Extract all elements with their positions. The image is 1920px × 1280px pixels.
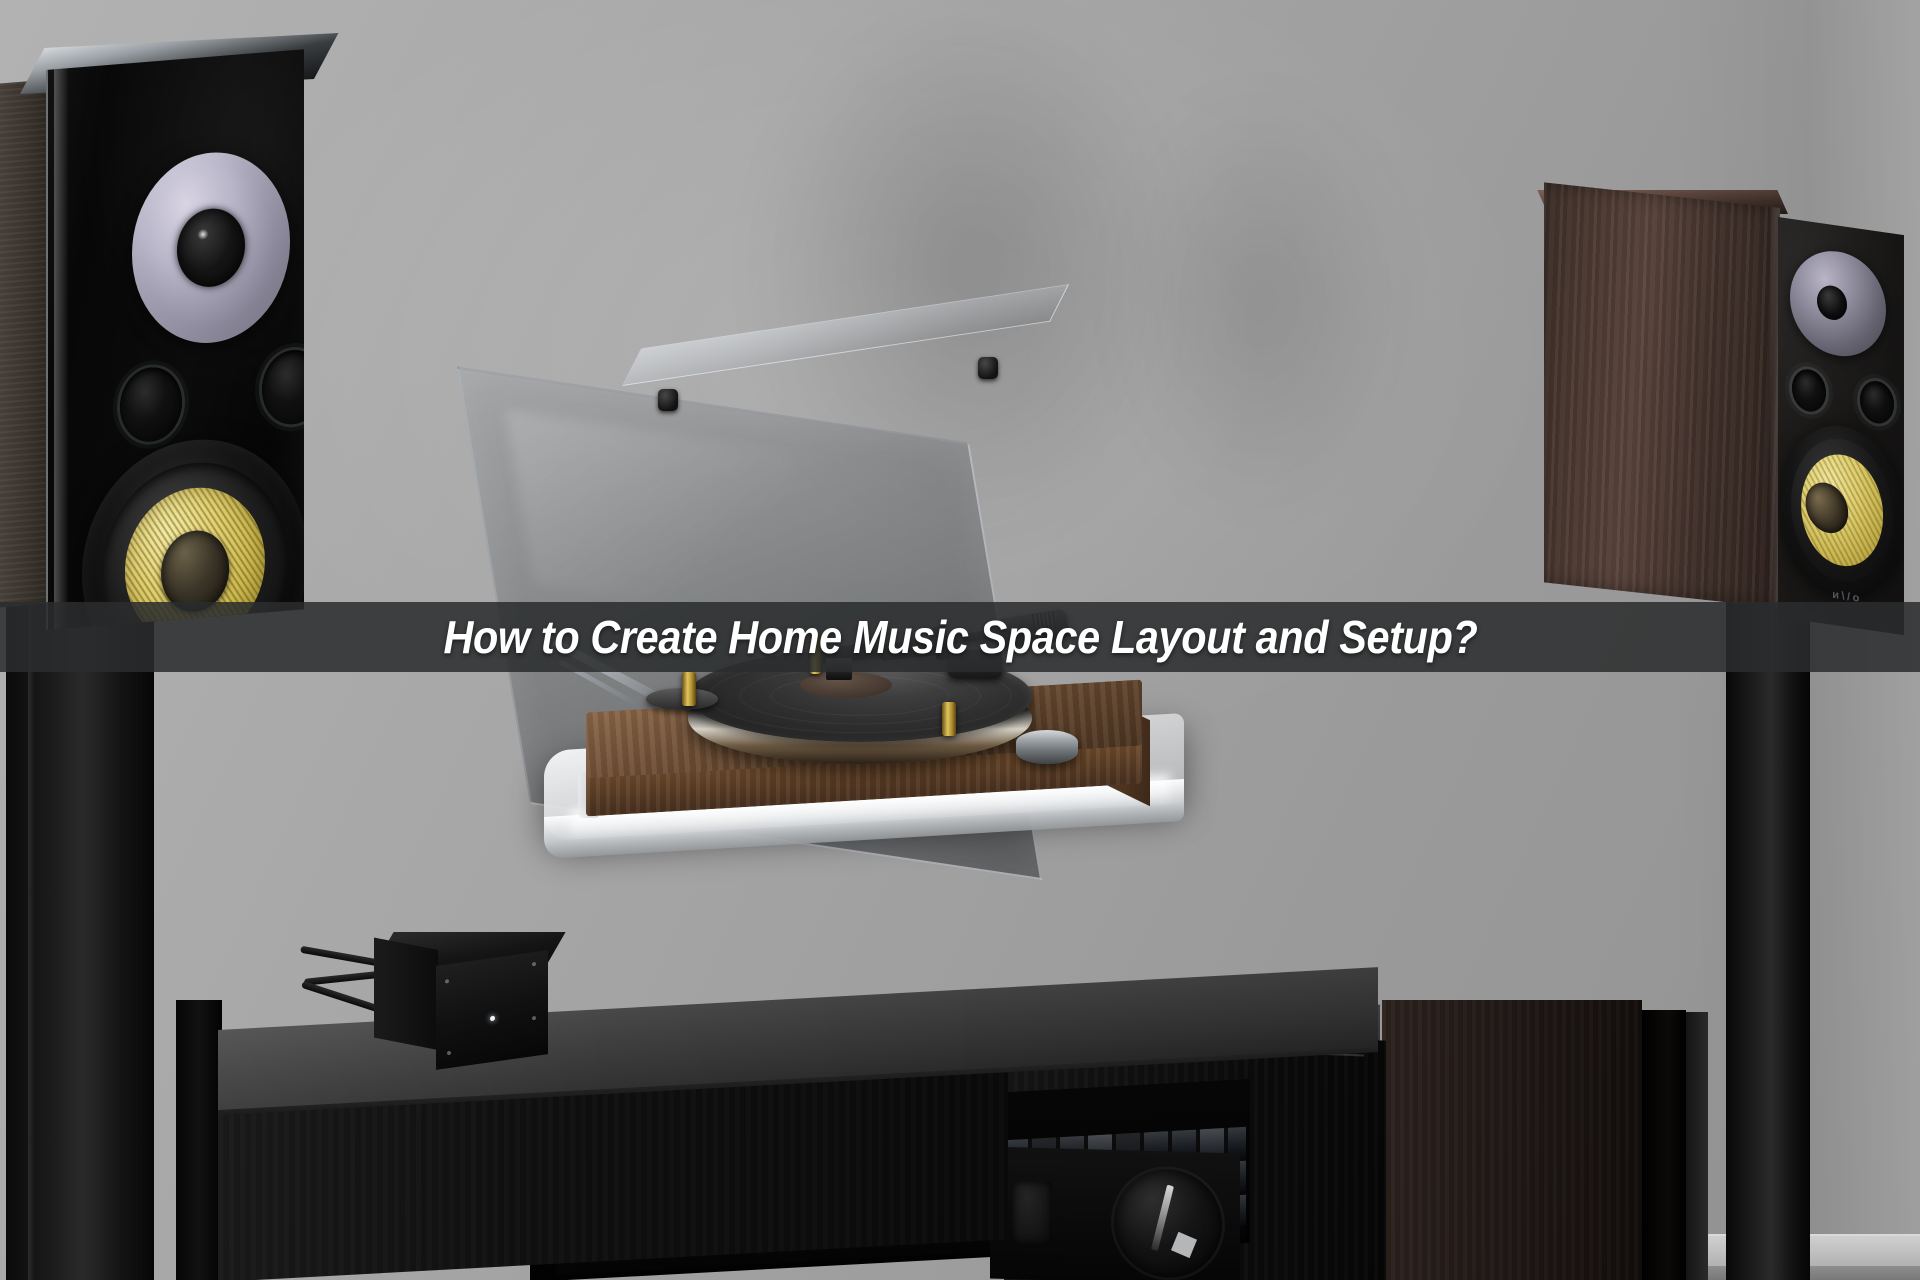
left-speaker-stand xyxy=(6,604,154,1280)
hinge-post xyxy=(682,672,696,706)
speed-knob[interactable] xyxy=(1016,730,1078,764)
bass-port-icon xyxy=(1792,367,1826,414)
screw-icon xyxy=(445,979,449,984)
right-speaker-wood-side xyxy=(1544,182,1780,608)
power-led-icon xyxy=(490,1016,495,1022)
belt-drive-turntable xyxy=(530,400,1210,1050)
sideboard-shadow-gap xyxy=(1686,1012,1708,1280)
hinge-post xyxy=(942,702,956,736)
sideboard-right-unit xyxy=(1382,1000,1642,1280)
right-speaker-baffle: ᴎ\/ᴏ xyxy=(1778,217,1904,635)
woofer-icon xyxy=(82,431,304,630)
bass-port-icon xyxy=(120,365,182,444)
title-banner: How to Create Home Music Space Layout an… xyxy=(0,602,1920,672)
cable xyxy=(301,981,385,1014)
screenshot-stage: BRAND ᴎ\/ᴏ xyxy=(0,0,1920,1280)
tweeter-dome xyxy=(1817,284,1847,322)
integrated-amplifier xyxy=(990,1147,1240,1280)
left-speaker-baffle: BRAND xyxy=(46,49,304,630)
screw-icon xyxy=(447,1051,451,1056)
preamp-side-panel xyxy=(374,938,438,1050)
right-speaker-stand xyxy=(1726,600,1810,1280)
tweeter-dome xyxy=(177,206,245,289)
sideboard-right-gap xyxy=(1642,1010,1686,1280)
woofer-icon xyxy=(1780,417,1904,603)
sideboard-left-edge xyxy=(176,1000,222,1280)
dust-cover-hinge xyxy=(978,357,998,379)
tweeter-icon xyxy=(1790,245,1886,363)
selector-button[interactable] xyxy=(1012,1181,1052,1244)
volume-knob[interactable] xyxy=(1114,1168,1222,1279)
dust-cover-hinge xyxy=(658,389,678,411)
bass-port-icon xyxy=(262,348,304,427)
bass-port-icon xyxy=(1860,379,1894,426)
left-bookshelf-speaker: BRAND xyxy=(0,48,306,608)
tweeter-icon xyxy=(132,146,290,349)
page-title: How to Create Home Music Space Layout an… xyxy=(443,610,1477,664)
right-bookshelf-speaker: ᴎ\/ᴏ xyxy=(1544,208,1920,628)
